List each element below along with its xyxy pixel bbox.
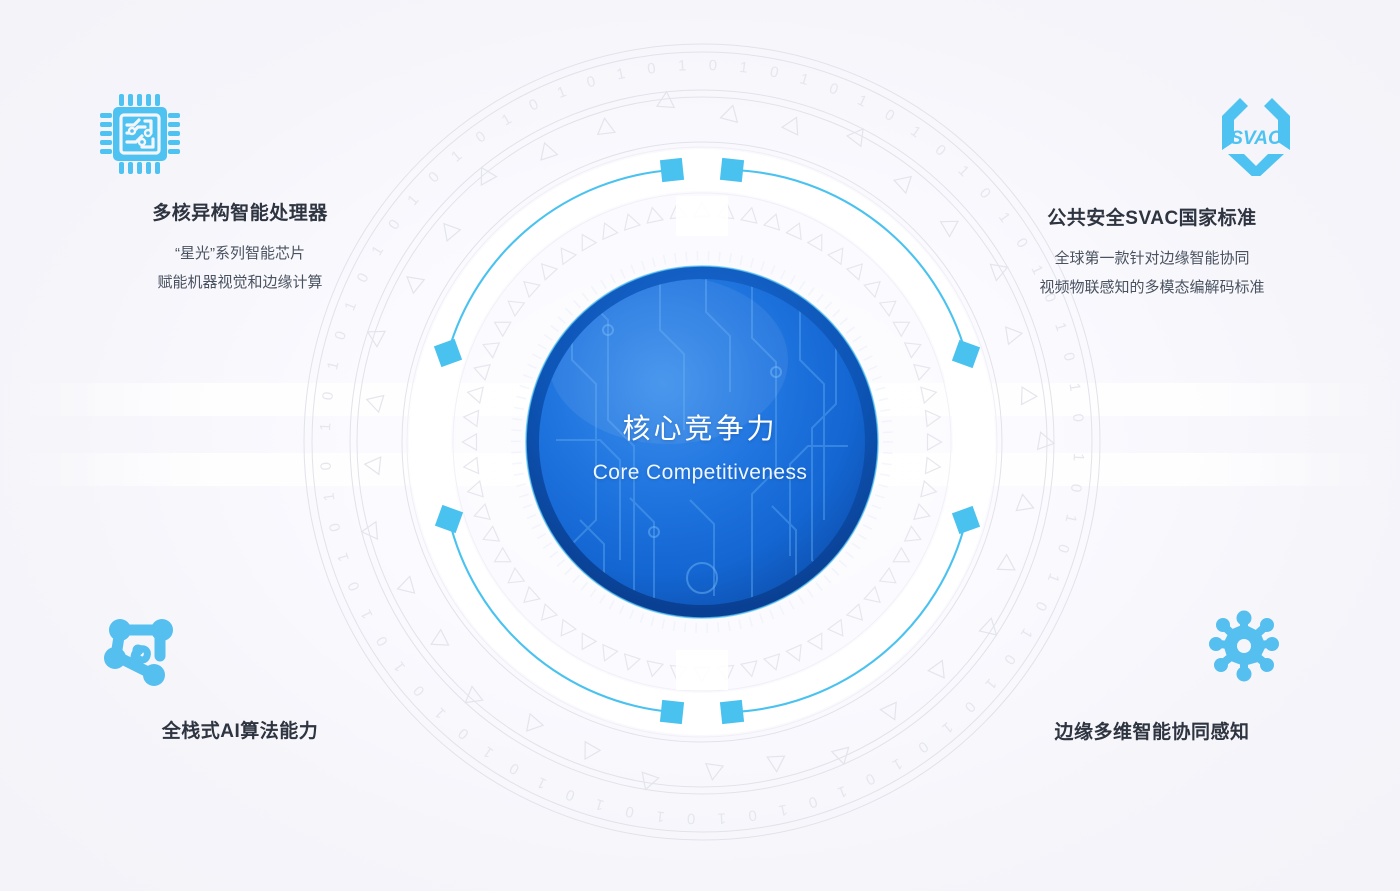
- icon-container: [60, 612, 420, 692]
- feature-line: 赋能机器视觉和边缘计算: [60, 268, 420, 297]
- node-top-right-square: [720, 158, 744, 182]
- icon-container: SVAC: [962, 92, 1342, 181]
- icon-container: [60, 92, 420, 176]
- feature-title: 多核异构智能处理器: [60, 198, 420, 225]
- multi-node-sensor-icon: [1204, 606, 1284, 686]
- infographic-canvas: 0 1 0 1 0 1 0 1 0 1 0 1 0 1 0 1 0 1 0 1 …: [0, 0, 1400, 891]
- node-top-left-square: [660, 158, 684, 182]
- ai-network-node-icon: [102, 612, 182, 692]
- feature-block-bottom-left: 全栈式AI算法能力: [60, 612, 420, 743]
- feature-title: 公共安全SVAC国家标准: [962, 203, 1342, 230]
- icon-container: [962, 606, 1342, 691]
- feature-title: 边缘多维智能协同感知: [962, 717, 1342, 744]
- feature-line: 全球第一款针对边缘智能协同: [962, 244, 1342, 273]
- node-bottom-left-square: [660, 700, 684, 724]
- svac-shield-icon: SVAC: [1214, 92, 1298, 176]
- feature-line: “星光”系列智能芯片: [60, 239, 420, 268]
- svac-logo-text: SVAC: [1230, 128, 1282, 149]
- feature-block-top-left: 多核异构智能处理器 “星光”系列智能芯片 赋能机器视觉和边缘计算: [60, 92, 420, 298]
- feature-block-bottom-right: 边缘多维智能协同感知: [962, 606, 1342, 744]
- core-gloss: [548, 276, 788, 444]
- feature-title: 全栈式AI算法能力: [60, 716, 420, 743]
- feature-body: “星光”系列智能芯片 赋能机器视觉和边缘计算: [60, 239, 420, 298]
- feature-block-top-right: SVAC 公共安全SVAC国家标准 全球第一款针对边缘智能协同 视频物联感知的多…: [962, 92, 1342, 303]
- node-bottom-right-square: [720, 700, 744, 724]
- feature-line: 视频物联感知的多模态编解码标准: [962, 273, 1342, 302]
- cpu-chip-icon: [98, 92, 182, 176]
- feature-body: 全球第一款针对边缘智能协同 视频物联感知的多模态编解码标准: [962, 244, 1342, 303]
